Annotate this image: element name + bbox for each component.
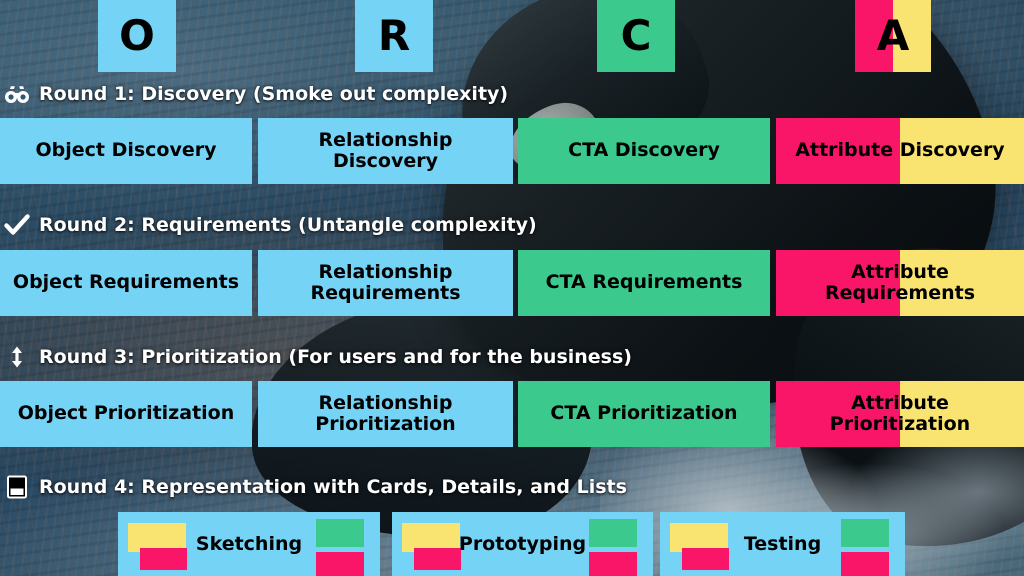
round-heading-1: Round 1: Discovery (Smoke out complexity… — [4, 82, 508, 106]
bar-label: Relationship Requirements — [304, 262, 466, 305]
card-stack-left — [670, 512, 736, 576]
mini-card-pink — [841, 552, 889, 576]
bar-label: Object Prioritization — [12, 403, 241, 424]
bar-label: Relationship Prioritization — [309, 393, 461, 436]
bar-cta-requirements[interactable]: CTA Requirements — [518, 250, 770, 316]
letter-tile-r: R — [355, 0, 433, 72]
bar-label: Object Requirements — [7, 272, 245, 293]
card-layout-icon — [4, 475, 30, 499]
bar-label: Relationship Discovery — [258, 130, 513, 173]
up-down-arrow-icon — [4, 345, 30, 369]
bar-label: Attribute Prioritization — [824, 393, 976, 436]
bar-attribute-prioritization[interactable]: Attribute Prioritization — [776, 381, 1024, 447]
mini-card-pink — [682, 548, 729, 570]
orca-framework-slide: ORCA Round 1: Discovery (Smoke out compl… — [0, 0, 1024, 576]
bar-attribute-discovery[interactable]: Attribute Discovery — [776, 118, 1024, 184]
rep-bar-label: Testing — [744, 533, 821, 555]
bar-relationship-prioritization[interactable]: Relationship Prioritization — [258, 381, 513, 447]
mini-card-green — [589, 519, 637, 547]
mini-card-pink — [316, 552, 364, 576]
mini-card-pink — [589, 552, 637, 576]
acronym-letter-glyph: R — [378, 15, 410, 57]
bar-cta-prioritization[interactable]: CTA Prioritization — [518, 381, 770, 447]
bar-object-discovery[interactable]: Object Discovery — [0, 118, 252, 184]
rep-bar-label: Sketching — [196, 533, 302, 555]
bar-object-requirements[interactable]: Object Requirements — [0, 250, 252, 316]
round-heading-label: Round 1: Discovery (Smoke out complexity… — [39, 83, 508, 105]
acronym-letter-glyph: C — [621, 15, 652, 57]
bar-label: Attribute Discovery — [789, 140, 1010, 161]
letter-tile-o: O — [98, 0, 176, 72]
acronym-letter-glyph: A — [877, 15, 910, 57]
rep-bar-label: Prototyping — [459, 533, 586, 555]
bar-label: Object Discovery — [29, 140, 222, 161]
bar-label: CTA Prioritization — [544, 403, 743, 424]
letter-tile-a: A — [855, 0, 931, 72]
rep-bar-sketching[interactable]: Sketching — [118, 512, 380, 576]
bar-relationship-requirements[interactable]: Relationship Requirements — [258, 250, 513, 316]
bar-cta-discovery[interactable]: CTA Discovery — [518, 118, 770, 184]
bar-label: CTA Requirements — [540, 272, 749, 293]
bar-label: Attribute Requirements — [819, 262, 981, 305]
rep-bar-testing[interactable]: Testing — [660, 512, 905, 576]
acronym-letter-glyph: O — [119, 15, 155, 57]
round-heading-4: Round 4: Representation with Cards, Deta… — [4, 475, 627, 499]
card-stack-left — [128, 512, 194, 576]
mini-card-green — [841, 519, 889, 547]
round-heading-2: Round 2: Requirements (Untangle complexi… — [4, 213, 537, 237]
round-heading-3: Round 3: Prioritization (For users and f… — [4, 345, 632, 369]
binoculars-icon — [4, 82, 30, 106]
card-stack-right — [829, 512, 895, 576]
round-heading-label: Round 2: Requirements (Untangle complexi… — [39, 214, 537, 236]
mini-card-pink — [140, 548, 187, 570]
rep-bar-prototyping[interactable]: Prototyping — [392, 512, 653, 576]
bar-object-prioritization[interactable]: Object Prioritization — [0, 381, 252, 447]
bar-attribute-requirements[interactable]: Attribute Requirements — [776, 250, 1024, 316]
round-heading-label: Round 3: Prioritization (For users and f… — [39, 346, 632, 368]
card-stack-right — [577, 512, 643, 576]
card-stack-right — [304, 512, 370, 576]
letter-tile-c: C — [597, 0, 675, 72]
bar-relationship-discovery[interactable]: Relationship Discovery — [258, 118, 513, 184]
mini-card-green — [316, 519, 364, 547]
round-heading-label: Round 4: Representation with Cards, Deta… — [39, 476, 627, 498]
checkmark-icon — [4, 213, 30, 237]
bar-label: CTA Discovery — [562, 140, 726, 161]
mini-card-pink — [414, 548, 461, 570]
